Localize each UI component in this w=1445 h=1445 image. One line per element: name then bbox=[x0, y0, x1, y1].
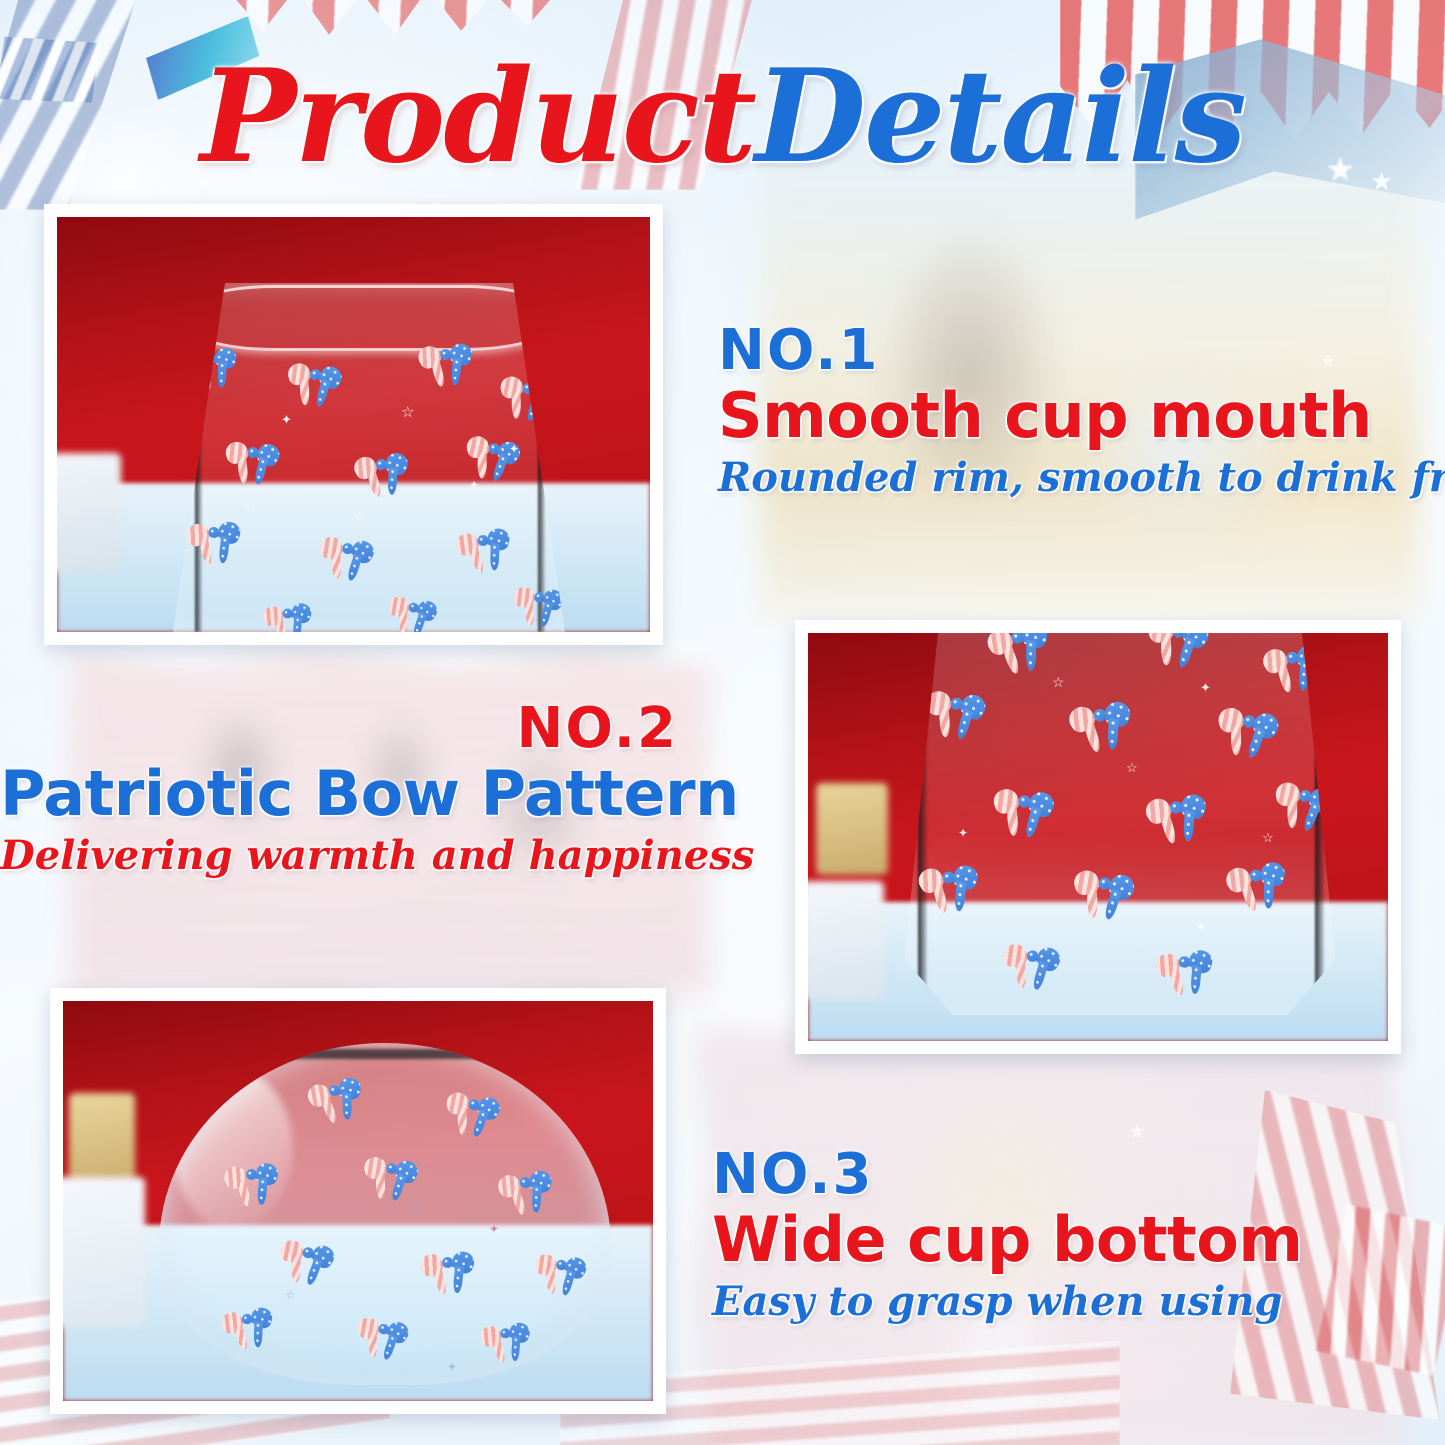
bow-motif bbox=[262, 599, 315, 632]
bow-motif bbox=[1224, 856, 1291, 915]
bow-motif bbox=[1000, 939, 1061, 993]
bow-motif bbox=[511, 583, 564, 629]
feature-2-number: NO.2 bbox=[0, 700, 678, 759]
bow-motif bbox=[532, 1250, 588, 1299]
bow-motif bbox=[223, 1158, 282, 1209]
feature-block-1: NO.1 Smooth cup mouth Rounded rim, smoot… bbox=[718, 322, 1445, 502]
photo-prop-candle bbox=[816, 783, 888, 875]
bow-motif bbox=[991, 784, 1056, 841]
photo-prop-box bbox=[63, 1177, 145, 1327]
bow-motif bbox=[316, 532, 375, 584]
star-icon: ✦ bbox=[447, 1361, 457, 1373]
product-photo-cup-mouth: ✦ ☆ ✦ ☆ ☆ ✦ bbox=[44, 204, 663, 645]
bow-motif bbox=[219, 1302, 277, 1353]
star-icon: ✦ bbox=[1200, 681, 1211, 694]
feature-1-number: NO.1 bbox=[718, 322, 1445, 381]
star-icon: ✦ bbox=[281, 413, 292, 426]
bow-motif bbox=[985, 633, 1054, 679]
feature-1-heading: Smooth cup mouth bbox=[718, 381, 1445, 450]
star-icon: ☆ bbox=[409, 1203, 421, 1216]
star-icon: ✦ bbox=[509, 443, 519, 455]
bow-motif bbox=[354, 1313, 411, 1363]
bow-motif bbox=[1144, 789, 1210, 848]
product-photo-bow-pattern-image: ☆ ✦ ☆ ✦ ☆ ✦ bbox=[808, 633, 1388, 1041]
feature-1-subtext: Rounded rim, smooth to drink from bbox=[718, 454, 1445, 502]
confetti-flag-icon bbox=[1316, 1204, 1445, 1376]
bow-motif bbox=[352, 448, 411, 500]
bow-motif bbox=[1070, 865, 1136, 924]
star-icon: ☆ bbox=[1126, 761, 1138, 774]
bow-motif bbox=[479, 1318, 533, 1366]
product-photo-bow-pattern: ☆ ✦ ☆ ✦ ☆ ✦ bbox=[795, 620, 1401, 1054]
feature-3-number: NO.3 bbox=[712, 1146, 1302, 1205]
star-icon: ☆ bbox=[1052, 675, 1065, 689]
bow-motif bbox=[385, 592, 439, 632]
bow-motif bbox=[185, 517, 242, 567]
bow-motif bbox=[419, 1247, 477, 1298]
bow-motif bbox=[923, 686, 987, 743]
star-icon: ★ bbox=[1128, 1122, 1146, 1142]
feature-block-3: NO.3 Wide cup bottom Easy to grasp when … bbox=[712, 1146, 1302, 1326]
photo-prop-candle bbox=[69, 1093, 135, 1183]
feature-2-subtext: Delivering warmth and happiness bbox=[0, 832, 678, 880]
product-photo-cup-bottom: ☆ ✦ ☆ ✦ bbox=[50, 988, 666, 1414]
star-icon: ✦ bbox=[489, 1223, 499, 1235]
feature-block-2: NO.2 Patriotic Bow Pattern Delivering wa… bbox=[0, 700, 700, 880]
star-icon: ✦ bbox=[469, 479, 479, 491]
bow-motif bbox=[285, 358, 344, 409]
bow-motif bbox=[1213, 702, 1281, 762]
star-icon: ☆ bbox=[401, 405, 414, 420]
product-details-infographic: ★ ★ ★ ★ ★ ★ ★ ProductDetails bbox=[0, 0, 1445, 1445]
bow-motif bbox=[1143, 633, 1210, 672]
glass-rim bbox=[177, 285, 561, 351]
star-icon: ✦ bbox=[1196, 921, 1206, 933]
bow-motif bbox=[1154, 945, 1215, 999]
star-icon: ☆ bbox=[245, 501, 256, 513]
glass-cup-bottom: ☆ ✦ ☆ ✦ bbox=[159, 1043, 611, 1385]
page-title-word-product: Product bbox=[200, 42, 755, 192]
star-icon: ✦ bbox=[958, 827, 968, 839]
product-photo-cup-mouth-image: ✦ ☆ ✦ ☆ ☆ ✦ bbox=[57, 217, 650, 632]
bow-motif bbox=[496, 1165, 556, 1218]
photo-prop-box bbox=[57, 453, 121, 573]
star-icon: ☆ bbox=[1262, 831, 1274, 844]
bow-motif bbox=[442, 1087, 503, 1141]
glass-cup: ☆ ✦ ☆ ✦ ☆ ✦ bbox=[900, 633, 1340, 1015]
bow-motif bbox=[360, 1152, 419, 1204]
bow-motif bbox=[275, 1235, 336, 1290]
page-title: ProductDetails bbox=[0, 42, 1445, 192]
product-photo-cup-bottom-image: ☆ ✦ ☆ ✦ bbox=[63, 1001, 653, 1401]
bow-motif bbox=[1067, 696, 1135, 756]
feature-3-subtext: Easy to grasp when using bbox=[712, 1278, 1302, 1326]
bow-motif bbox=[917, 860, 981, 916]
glass-cup: ✦ ☆ ✦ ☆ ☆ ✦ bbox=[169, 283, 569, 632]
feature-2-heading: Patriotic Bow Pattern bbox=[0, 759, 678, 828]
star-icon: ☆ bbox=[285, 1289, 296, 1301]
bow-motif bbox=[417, 339, 475, 390]
photo-prop-box bbox=[808, 881, 884, 999]
bow-motif bbox=[223, 437, 280, 487]
bow-motif bbox=[454, 523, 515, 577]
star-icon: ☆ bbox=[353, 509, 366, 523]
page-title-word-details: Details bbox=[755, 42, 1245, 192]
feature-3-heading: Wide cup bottom bbox=[712, 1205, 1302, 1274]
